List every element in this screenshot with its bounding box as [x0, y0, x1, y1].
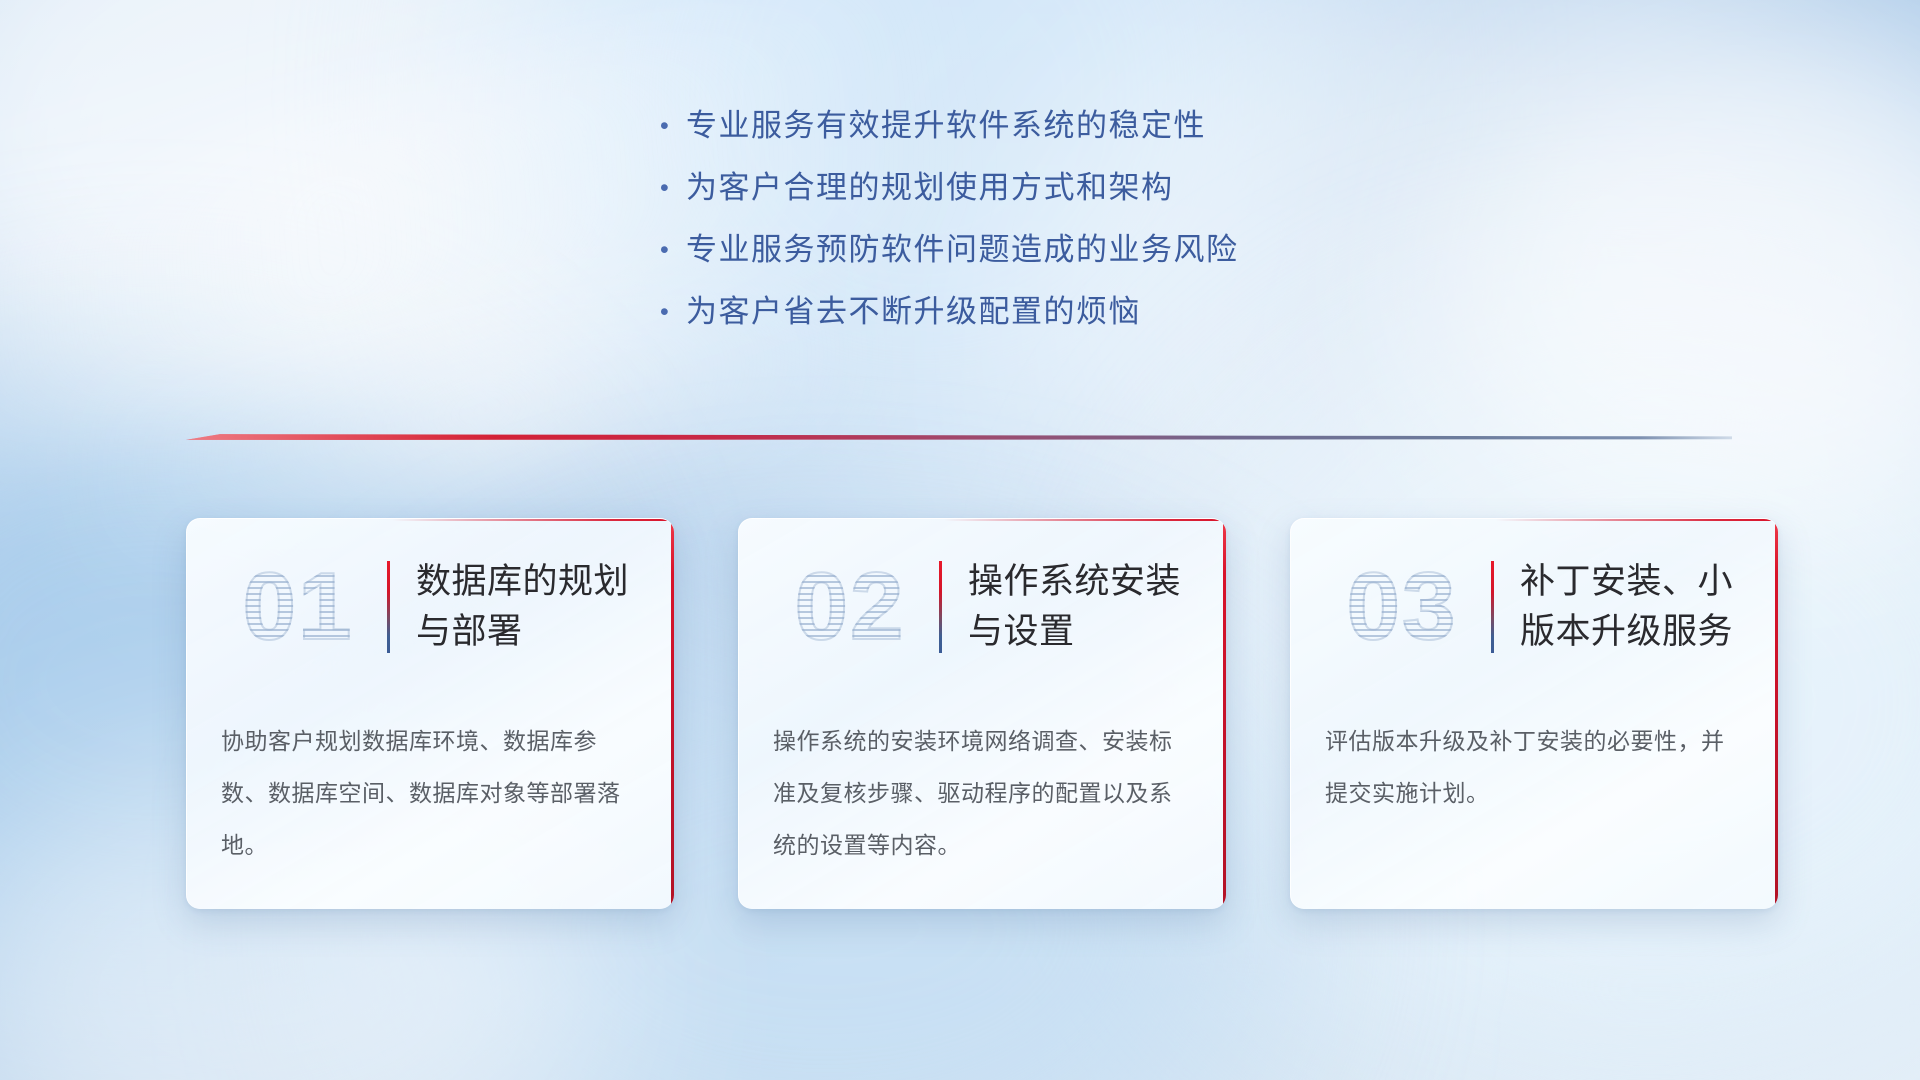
- bullet-text: 为客户合理的规划使用方式和架构: [686, 167, 1174, 209]
- bullet-dot-icon: •: [660, 167, 686, 209]
- card-body-text: 评估版本升级及补丁安装的必要性，并提交实施计划。: [1325, 715, 1744, 819]
- benefits-bullet-list: • 专业服务有效提升软件系统的稳定性 • 为客户合理的规划使用方式和架构 • 专…: [660, 105, 1420, 353]
- card-body-text: 协助客户规划数据库环境、数据库参数、数据库空间、数据库对象等部署落地。: [221, 715, 640, 871]
- card-header: 02 操作系统安装与设置: [739, 519, 1226, 695]
- bullet-text: 专业服务有效提升软件系统的稳定性: [686, 105, 1206, 147]
- card-header: 03 补丁安装、小版本升级服务: [1291, 519, 1778, 695]
- bullet-text: 专业服务预防软件问题造成的业务风险: [686, 229, 1239, 271]
- card-number: 02: [761, 559, 939, 655]
- service-card-list: 01 数据库的规划与部署 协助客户规划数据库环境、数据库参数、数据库空间、数据库…: [186, 518, 1778, 909]
- card-title: 数据库的规划与部署: [390, 557, 674, 657]
- service-card[interactable]: 03 补丁安装、小版本升级服务 评估版本升级及补丁安装的必要性，并提交实施计划。: [1290, 518, 1778, 909]
- list-item: • 专业服务预防软件问题造成的业务风险: [660, 229, 1420, 271]
- section-divider: [186, 430, 1732, 446]
- card-body-text: 操作系统的安装环境网络调查、安装标准及复核步骤、驱动程序的配置以及系统的设置等内…: [773, 715, 1192, 871]
- list-item: • 为客户合理的规划使用方式和架构: [660, 167, 1420, 209]
- card-title: 操作系统安装与设置: [942, 557, 1226, 657]
- list-item: • 为客户省去不断升级配置的烦恼: [660, 291, 1420, 333]
- card-number: 03: [1313, 559, 1491, 655]
- bullet-text: 为客户省去不断升级配置的烦恼: [686, 291, 1141, 333]
- card-title: 补丁安装、小版本升级服务: [1494, 557, 1778, 657]
- card-header: 01 数据库的规划与部署: [187, 519, 674, 695]
- service-card[interactable]: 01 数据库的规划与部署 协助客户规划数据库环境、数据库参数、数据库空间、数据库…: [186, 518, 674, 909]
- bullet-dot-icon: •: [660, 291, 686, 333]
- list-item: • 专业服务有效提升软件系统的稳定性: [660, 105, 1420, 147]
- divider-highlight: [186, 430, 1732, 446]
- card-number: 01: [209, 559, 387, 655]
- bullet-dot-icon: •: [660, 229, 686, 271]
- bullet-dot-icon: •: [660, 105, 686, 147]
- service-card[interactable]: 02 操作系统安装与设置 操作系统的安装环境网络调查、安装标准及复核步骤、驱动程…: [738, 518, 1226, 909]
